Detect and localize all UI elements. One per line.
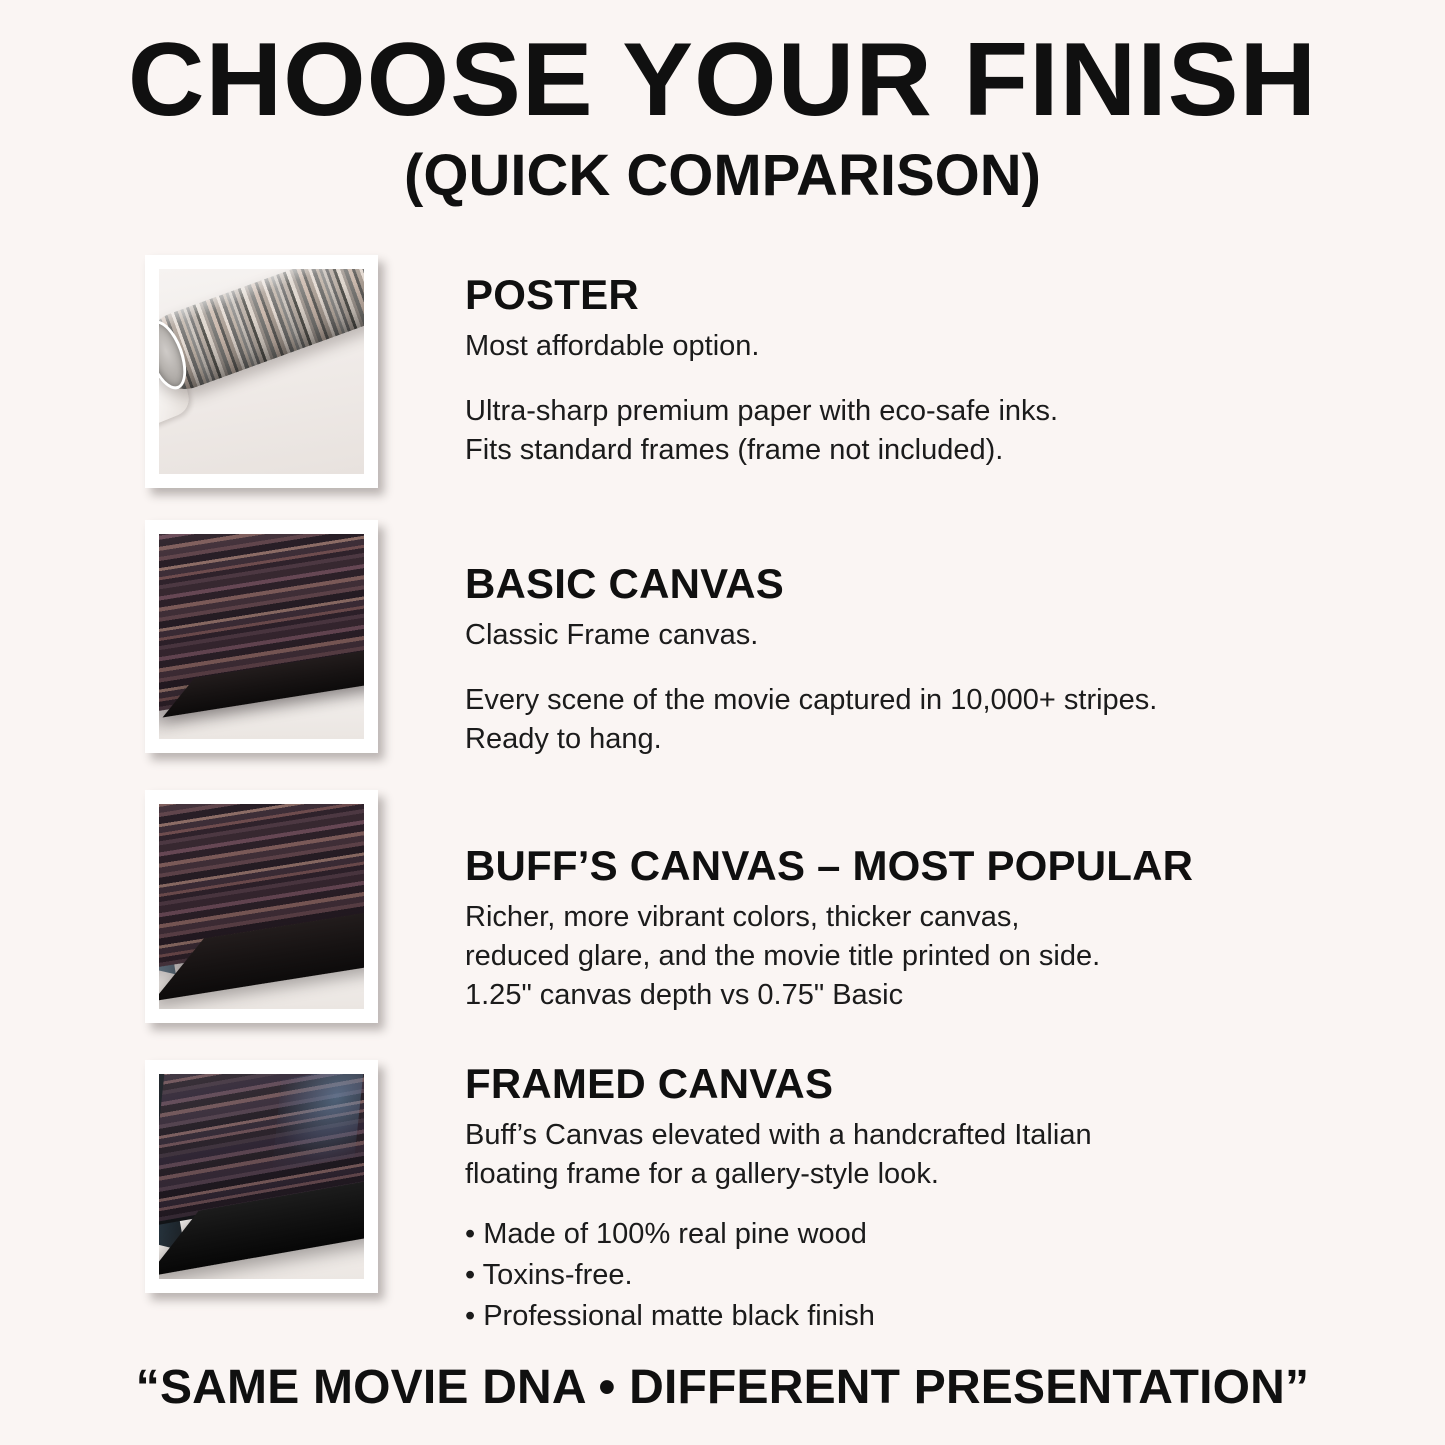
finish-option-buffs-canvas[interactable]: BUFF’S CANVAS – MOST POPULAR Richer, mor…	[0, 785, 1445, 1055]
basic-canvas-summary: Classic Frame canvas.	[465, 616, 1225, 655]
framed-canvas-title: FRAMED CANVAS	[465, 1061, 1225, 1106]
framed-canvas-photo	[159, 1074, 364, 1279]
page-title: CHOOSE YOUR FINISH	[0, 26, 1445, 134]
list-item: • Made of 100% real pine wood	[465, 1214, 1225, 1255]
basic-canvas-photo	[159, 534, 364, 739]
buffs-canvas-text-block: BUFF’S CANVAS – MOST POPULAR Richer, mor…	[465, 843, 1225, 1015]
finish-option-poster[interactable]: POSTER Most affordable option. Ultra-sha…	[0, 250, 1445, 518]
buffs-canvas-photo	[159, 804, 364, 1009]
rolled-poster-photo	[159, 269, 364, 474]
framed-canvas-bullet-list: • Made of 100% real pine wood • Toxins-f…	[465, 1214, 1225, 1338]
basic-canvas-text-block: BASIC CANVAS Classic Frame canvas. Every…	[465, 561, 1225, 759]
page-footer: “SAME MOVIE DNA • DIFFERENT PRESENTATION…	[0, 1360, 1445, 1415]
finish-option-basic-canvas[interactable]: BASIC CANVAS Classic Frame canvas. Every…	[0, 515, 1445, 785]
footer-tagline: “SAME MOVIE DNA • DIFFERENT PRESENTATION…	[0, 1360, 1445, 1415]
framed-canvas-detail-line-2: floating frame for a gallery-style look.	[465, 1155, 1225, 1194]
poster-summary: Most affordable option.	[465, 327, 1225, 366]
basic-canvas-detail-line-2: Ready to hang.	[465, 720, 1225, 759]
poster-text-block: POSTER Most affordable option. Ultra-sha…	[465, 272, 1225, 470]
basic-canvas-detail-line-1: Every scene of the movie captured in 10,…	[465, 681, 1225, 720]
spacer	[465, 366, 1225, 392]
buffs-canvas-detail-line-1: Richer, more vibrant colors, thicker can…	[465, 898, 1225, 937]
poster-detail-line-1: Ultra-sharp premium paper with eco-safe …	[465, 392, 1225, 431]
basic-canvas-title: BASIC CANVAS	[465, 561, 1225, 606]
list-item: • Professional matte black finish	[465, 1296, 1225, 1337]
poster-title: POSTER	[465, 272, 1225, 317]
list-item: • Toxins-free.	[465, 1255, 1225, 1296]
framed-canvas-photo-card[interactable]	[145, 1060, 378, 1293]
spacer	[465, 655, 1225, 681]
poster-detail-line-2: Fits standard frames (frame not included…	[465, 431, 1225, 470]
framed-canvas-detail-line-1: Buff’s Canvas elevated with a handcrafte…	[465, 1116, 1225, 1155]
finish-option-framed-canvas[interactable]: FRAMED CANVAS Buff’s Canvas elevated wit…	[0, 1055, 1445, 1325]
framed-canvas-text-block: FRAMED CANVAS Buff’s Canvas elevated wit…	[465, 1061, 1225, 1338]
buffs-canvas-photo-card[interactable]	[145, 790, 378, 1023]
basic-canvas-photo-card[interactable]	[145, 520, 378, 753]
buffs-canvas-detail-line-2: reduced glare, and the movie title print…	[465, 937, 1225, 976]
page-header: CHOOSE YOUR FINISH (QUICK COMPARISON)	[0, 0, 1445, 208]
poster-photo-card[interactable]	[145, 255, 378, 488]
buffs-canvas-detail-line-3: 1.25" canvas depth vs 0.75" Basic	[465, 976, 1225, 1015]
buffs-canvas-title: BUFF’S CANVAS – MOST POPULAR	[465, 843, 1225, 888]
page-subtitle: (QUICK COMPARISON)	[0, 144, 1445, 208]
